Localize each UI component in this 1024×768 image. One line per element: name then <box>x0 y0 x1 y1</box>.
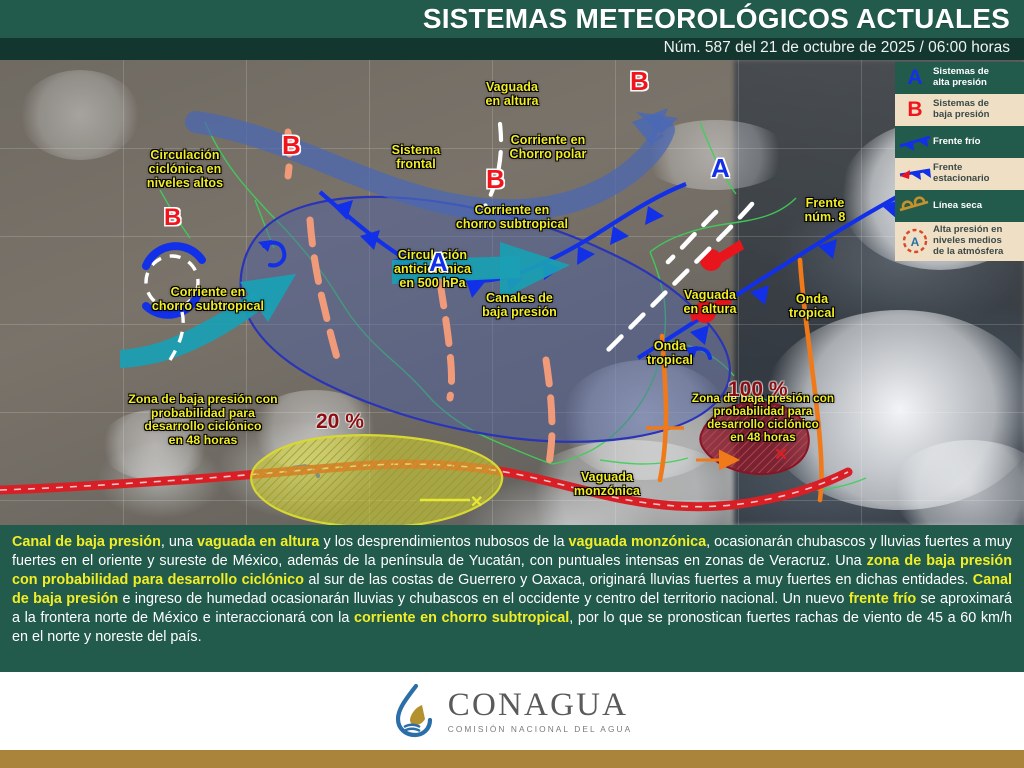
stationary-front-icon <box>897 161 933 187</box>
upper-trough-east-dashed <box>604 204 752 354</box>
low-pressure-symbol-upper-right: B <box>630 68 649 94</box>
svg-text:✕: ✕ <box>470 494 483 511</box>
conagua-logo: CONAGUA COMISIÓN NACIONAL DEL AGUA <box>392 683 632 739</box>
legend-item-stationary-front[interactable]: Frente estacionario <box>895 158 1024 190</box>
grid-line <box>615 60 616 525</box>
upper-level-trough-east-label: Vaguada en altura <box>655 288 765 316</box>
forecast-text-run: , una <box>161 534 197 550</box>
monsoon-trough-label: Vaguada monzónica <box>552 470 662 498</box>
front-number-8-label: Frente núm. 8 <box>785 196 865 224</box>
forecast-highlight: vaguada en altura <box>197 534 319 550</box>
grid-line <box>123 60 124 525</box>
low-pressure-symbol-west: B <box>282 132 301 158</box>
high-pressure-symbol-pacific: A <box>429 249 448 275</box>
mid-level-high-icon: A <box>897 228 933 254</box>
forecast-highlight: frente frío <box>849 591 916 607</box>
logo-text: CONAGUA COMISIÓN NACIONAL DEL AGUA <box>448 689 632 733</box>
letter-A-icon: A <box>897 65 933 91</box>
grid-line <box>0 500 1024 501</box>
low-pressure-symbol-cyclone-core: B <box>164 206 181 230</box>
dry-line-icon <box>897 193 933 219</box>
grid-line <box>861 60 862 525</box>
low-pressure-symbol-north: B <box>486 166 505 192</box>
high-pressure-symbol-gulf: A <box>711 155 730 181</box>
legend-item-cold-front[interactable]: Frente frío <box>895 126 1024 158</box>
legend-item-label: Sistemas de alta presión <box>933 67 989 89</box>
tropical-wave-right-label: Onda tropical <box>772 292 852 320</box>
atlantic-dev-probability: 100 % <box>728 378 788 402</box>
grid-line <box>0 236 1024 237</box>
page-title: SISTEMAS METEOROLÓGICOS ACTUALES <box>423 3 1010 35</box>
grid-line <box>0 324 1024 325</box>
letter-B-icon: B <box>897 97 933 123</box>
cyclonic-dev-zone-pacific-label: Zona de baja presión con probabilidad pa… <box>103 393 303 448</box>
forecast-highlight: Canal de baja presión <box>12 534 161 550</box>
weather-bulletin-page: SISTEMAS METEOROLÓGICOS ACTUALES Núm. 58… <box>0 0 1024 768</box>
legend-item-label: Alta presión en niveles medios de la atm… <box>933 225 1003 258</box>
legend-item-label: Línea seca <box>933 201 982 212</box>
subtropical-jet-center-label: Corriente en chorro subtropical <box>432 203 592 231</box>
legend-item-mid-level-high[interactable]: A Alta presión en niveles medios de la a… <box>895 222 1024 261</box>
legend-item-label: Frente frío <box>933 137 980 148</box>
legend-item-high-pressure[interactable]: A Sistemas de alta presión <box>895 62 1024 94</box>
logo-subtitle: COMISIÓN NACIONAL DEL AGUA <box>448 725 632 733</box>
legend-item-dry-line[interactable]: Línea seca <box>895 190 1024 222</box>
bulletin-number-date: Núm. 587 del 21 de octubre de 2025 / 06:… <box>664 39 1010 57</box>
forecast-text-run: al sur de las costas de Guerrero y Oaxac… <box>304 572 973 588</box>
cloud-mass <box>20 70 140 160</box>
map-legend: A Sistemas de alta presión B Sistemas de… <box>895 62 1024 261</box>
forecast-highlight: vaguada monzónica <box>569 534 707 550</box>
upper-level-cyclonic-circulation-label: Circulación ciclónica en niveles altos <box>110 148 260 190</box>
forecast-text-block: Canal de baja presión, una vaguada en al… <box>0 525 1024 672</box>
forecast-paragraph: Canal de baja presión, una vaguada en al… <box>12 534 1012 645</box>
footer-gold-bar <box>0 750 1024 768</box>
svg-text:A: A <box>911 235 920 249</box>
pacific-dev-probability: 20 % <box>316 410 364 434</box>
forecast-highlight: corriente en chorro subtropical <box>354 610 569 626</box>
legend-item-low-pressure[interactable]: B Sistemas de baja presión <box>895 94 1024 126</box>
grid-line <box>369 60 370 525</box>
logo-name: CONAGUA <box>448 689 632 722</box>
cold-front-icon <box>897 129 933 155</box>
footer: CONAGUA COMISIÓN NACIONAL DEL AGUA <box>0 672 1024 750</box>
forecast-text-run: y los desprendimientos nubosos de la <box>319 534 568 550</box>
legend-item-label: Frente estacionario <box>933 163 990 185</box>
low-pressure-channels-label: Canales de baja presión <box>457 291 582 319</box>
subtropical-jet-left-label: Corriente en chorro subtropical <box>128 285 288 313</box>
upper-level-trough-north-label: Vaguada en altura <box>457 80 567 108</box>
tropical-wave-center-label: Onda tropical <box>630 339 710 367</box>
water-drop-eagle-icon <box>392 683 438 739</box>
forecast-text-run: e ingreso de humedad ocasionarán lluvias… <box>118 591 849 607</box>
frontal-system-label: Sistema frontal <box>366 143 466 171</box>
satellite-weather-map[interactable]: ✕ ✕ Circulación ciclónica en niveles alt… <box>0 60 1024 525</box>
legend-item-label: Sistemas de baja presión <box>933 99 990 121</box>
polar-jet-stream-label: Corriente en Chorro polar <box>483 133 613 161</box>
upper-trough-east-dashed-2 <box>668 212 716 262</box>
